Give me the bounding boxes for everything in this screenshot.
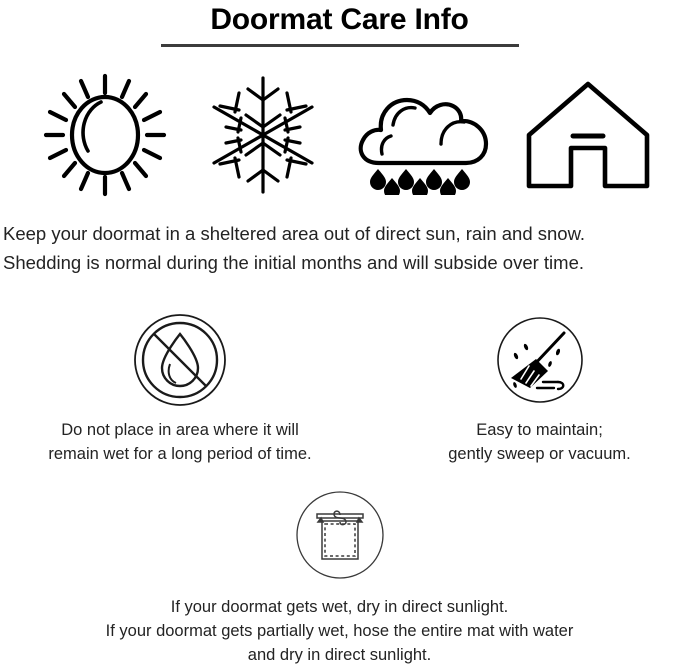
rain-cloud-icon xyxy=(353,75,493,195)
sweep-line-1: Easy to maintain; xyxy=(400,418,679,442)
care-item-sweep-caption: Easy to maintain; gently sweep or vacuum… xyxy=(400,418,679,466)
care-item-sweep: Easy to maintain; gently sweep or vacuum… xyxy=(400,310,679,466)
hang-to-dry-icon-wrap xyxy=(0,485,679,585)
snowflake-icon xyxy=(208,74,318,196)
intro-line-1: Keep your doormat in a sheltered area ou… xyxy=(3,219,679,248)
broom-icon xyxy=(496,316,584,404)
house-icon-cell xyxy=(510,70,665,200)
header: Doormat Care Info xyxy=(0,0,679,47)
page-title: Doormat Care Info xyxy=(0,0,679,39)
title-underline-rule xyxy=(161,44,519,47)
no-water-line-2: remain wet for a long period of time. xyxy=(10,442,350,466)
care-item-hang-dry-caption: If your doormat gets wet, dry in direct … xyxy=(0,595,679,667)
sun-icon-cell xyxy=(22,70,187,200)
care-item-no-water-caption: Do not place in area where it will remai… xyxy=(10,418,350,466)
no-water-icon xyxy=(132,312,228,408)
snowflake-icon-cell xyxy=(195,70,330,200)
hang-dry-line-3: and dry in direct sunlight. xyxy=(0,643,679,667)
care-item-no-water: Do not place in area where it will remai… xyxy=(10,310,350,466)
no-water-line-1: Do not place in area where it will xyxy=(10,418,350,442)
hang-to-dry-icon xyxy=(295,490,385,580)
sweep-line-2: gently sweep or vacuum. xyxy=(400,442,679,466)
house-icon xyxy=(525,80,651,190)
no-water-icon-wrap xyxy=(10,310,350,410)
hang-dry-line-2: If your doormat gets partially wet, hose… xyxy=(0,619,679,643)
rain-cloud-icon-cell xyxy=(345,70,500,200)
hang-dry-line-1: If your doormat gets wet, dry in direct … xyxy=(0,595,679,619)
broom-icon-wrap xyxy=(400,310,679,410)
intro-line-2: Shedding is normal during the initial mo… xyxy=(3,248,679,277)
intro-paragraph: Keep your doormat in a sheltered area ou… xyxy=(3,219,679,277)
sun-icon xyxy=(35,72,175,198)
doormat-care-info-page: Doormat Care Info xyxy=(0,0,679,655)
care-item-hang-dry: If your doormat gets wet, dry in direct … xyxy=(0,485,679,667)
weather-icon-row xyxy=(0,70,679,200)
